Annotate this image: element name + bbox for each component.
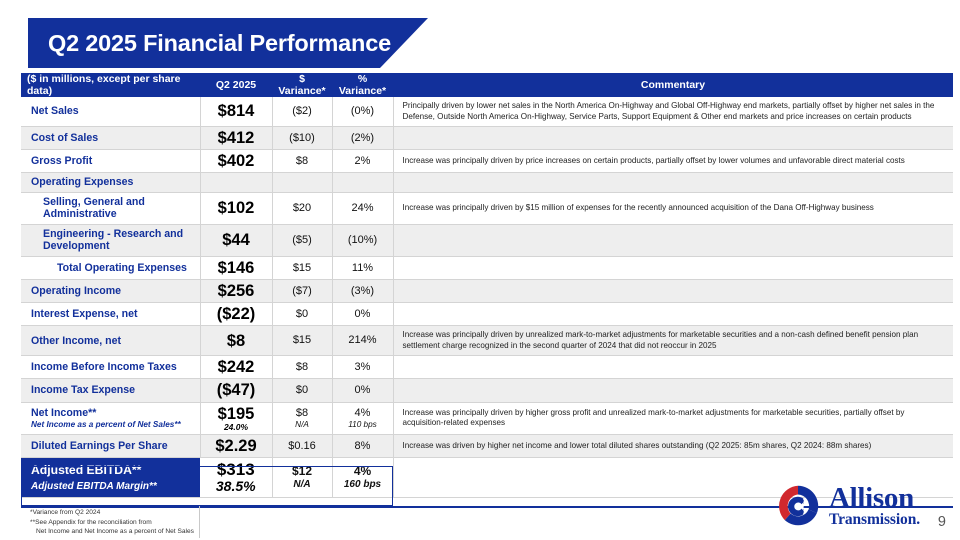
row-dollar-variance: $0.16 <box>272 435 332 458</box>
row-value: $146 <box>200 256 272 279</box>
row-label: Income Before Income Taxes <box>21 356 200 379</box>
row-percent-variance: (10%) <box>332 224 393 256</box>
row-dollar-variance <box>272 173 332 193</box>
row-percent-variance <box>332 173 393 193</box>
row-commentary <box>393 127 953 150</box>
header-commentary: Commentary <box>393 73 953 97</box>
table-header-row: ($ in millions, except per share data) Q… <box>21 73 953 97</box>
row-commentary <box>393 303 953 326</box>
row-label: Selling, General and Administrative <box>21 192 200 224</box>
row-dollar-variance: $8N/A <box>272 402 332 434</box>
row-dollar-variance: $0 <box>272 379 332 402</box>
footnotes: *Variance from Q2 2024 **See Appendix fo… <box>30 508 194 537</box>
row-value: ($47) <box>200 379 272 402</box>
row-commentary <box>393 256 953 279</box>
row-commentary <box>393 279 953 302</box>
header-value: Q2 2025 <box>200 73 272 97</box>
row-percent-variance: (0%) <box>332 97 393 127</box>
row-dollar-variance: $8 <box>272 356 332 379</box>
row-commentary <box>393 356 953 379</box>
table-row: Net Income**Net Income as a percent of N… <box>21 402 953 434</box>
table-body: Net Sales$814($2)(0%)Principally driven … <box>21 97 953 498</box>
row-dollar-variance: ($2) <box>272 97 332 127</box>
table-vertical-rule <box>199 506 200 538</box>
adjusted-ebitda-dollar-variance: $12N/A <box>272 458 332 498</box>
page-number: 9 <box>938 514 946 530</box>
table-row: Income Before Income Taxes$242$83% <box>21 356 953 379</box>
row-label: Operating Income <box>21 279 200 302</box>
row-dollar-variance: $0 <box>272 303 332 326</box>
row-label: Income Tax Expense <box>21 379 200 402</box>
row-label: Diluted Earnings Per Share <box>21 435 200 458</box>
sub-value: 110 bps <box>335 420 391 429</box>
row-commentary: Increase was principally driven by price… <box>393 150 953 173</box>
row-value: $242 <box>200 356 272 379</box>
row-value: $102 <box>200 192 272 224</box>
row-dollar-variance: ($10) <box>272 127 332 150</box>
row-label: Operating Expenses <box>21 173 200 193</box>
table-row: Engineering - Research and Development$4… <box>21 224 953 256</box>
row-label: Total Operating Expenses <box>21 256 200 279</box>
row-value: $19524.0% <box>200 402 272 434</box>
allison-transmission-logo: Allison Transmission. <box>776 484 920 528</box>
row-value <box>200 173 272 193</box>
row-commentary: Principally driven by lower net sales in… <box>393 97 953 127</box>
footnote-line-3: Net Income and Net Income as a percent o… <box>30 527 194 537</box>
header-percent-variance: % Variance* <box>332 73 393 97</box>
row-label: Interest Expense, net <box>21 303 200 326</box>
row-commentary <box>393 224 953 256</box>
row-label: Engineering - Research and Development <box>21 224 200 256</box>
row-value: $2.29 <box>200 435 272 458</box>
row-commentary: Increase was driven by higher net income… <box>393 435 953 458</box>
table-row: Selling, General and Administrative$102$… <box>21 192 953 224</box>
row-value: ($22) <box>200 303 272 326</box>
row-percent-variance: 24% <box>332 192 393 224</box>
table-row: Total Operating Expenses$146$1511% <box>21 256 953 279</box>
row-commentary: Increase was principally driven by unrea… <box>393 326 953 356</box>
row-dollar-variance: $15 <box>272 326 332 356</box>
adjusted-ebitda-label: Adjusted EBITDA**Adjusted EBITDA Margin*… <box>21 458 200 498</box>
footnote-line-2: **See Appendix for the reconciliation fr… <box>30 519 152 526</box>
sub-value: 24.0% <box>203 423 270 432</box>
logo-wordmark: Allison Transmission. <box>829 484 920 528</box>
allison-swirl-icon <box>776 484 820 528</box>
financial-performance-table: ($ in millions, except per share data) Q… <box>21 73 953 498</box>
sub-value: Net Income as a percent of Net Sales** <box>31 420 196 430</box>
row-percent-variance: (3%) <box>332 279 393 302</box>
row-value: $256 <box>200 279 272 302</box>
table-row: Cost of Sales$412($10)(2%) <box>21 127 953 150</box>
page-title: Q2 2025 Financial Performance <box>28 30 391 57</box>
row-dollar-variance: ($5) <box>272 224 332 256</box>
table-row: Operating Expenses <box>21 173 953 193</box>
row-value: $412 <box>200 127 272 150</box>
table-row: Other Income, net$8$15214%Increase was p… <box>21 326 953 356</box>
row-percent-variance: 0% <box>332 303 393 326</box>
row-value: $8 <box>200 326 272 356</box>
table-row: Interest Expense, net($22)$00% <box>21 303 953 326</box>
row-percent-variance: (2%) <box>332 127 393 150</box>
footnote-line-1: *Variance from Q2 2024 <box>30 509 100 516</box>
slide-canvas: Q2 2025 Financial Performance ($ in mill… <box>0 0 960 540</box>
row-dollar-variance: $8 <box>272 150 332 173</box>
row-dollar-variance: ($7) <box>272 279 332 302</box>
row-label: Gross Profit <box>21 150 200 173</box>
title-banner: Q2 2025 Financial Performance <box>28 18 428 68</box>
sub-value: N/A <box>275 479 330 490</box>
sub-value: 38.5% <box>202 479 270 494</box>
row-percent-variance: 11% <box>332 256 393 279</box>
row-commentary: Increase was principally driven by $15 m… <box>393 192 953 224</box>
row-percent-variance: 4%110 bps <box>332 402 393 434</box>
row-label: Net Sales <box>21 97 200 127</box>
sub-value: Adjusted EBITDA Margin** <box>31 481 196 493</box>
row-percent-variance: 2% <box>332 150 393 173</box>
row-commentary <box>393 379 953 402</box>
header-dollar-variance: $ Variance* <box>272 73 332 97</box>
row-dollar-variance: $20 <box>272 192 332 224</box>
row-percent-variance: 8% <box>332 435 393 458</box>
table-row: Net Sales$814($2)(0%)Principally driven … <box>21 97 953 127</box>
row-value: $402 <box>200 150 272 173</box>
table-row: Gross Profit$402$82%Increase was princip… <box>21 150 953 173</box>
row-label: Net Income**Net Income as a percent of N… <box>21 402 200 434</box>
row-dollar-variance: $15 <box>272 256 332 279</box>
table-row: Diluted Earnings Per Share$2.29$0.168%In… <box>21 435 953 458</box>
sub-value: 160 bps <box>335 479 391 490</box>
row-value: $44 <box>200 224 272 256</box>
table-row: Income Tax Expense($47)$00% <box>21 379 953 402</box>
row-percent-variance: 214% <box>332 326 393 356</box>
row-commentary <box>393 173 953 193</box>
adjusted-ebitda-percent-variance: 4%160 bps <box>332 458 393 498</box>
row-label: Other Income, net <box>21 326 200 356</box>
row-label: Cost of Sales <box>21 127 200 150</box>
row-percent-variance: 0% <box>332 379 393 402</box>
row-value: $814 <box>200 97 272 127</box>
logo-primary-text: Allison <box>829 484 920 513</box>
sub-value: N/A <box>275 420 330 429</box>
header-label: ($ in millions, except per share data) <box>21 73 200 97</box>
logo-secondary-text: Transmission. <box>829 512 920 528</box>
row-commentary: Increase was principally driven by highe… <box>393 402 953 434</box>
row-percent-variance: 3% <box>332 356 393 379</box>
adjusted-ebitda-value: $31338.5% <box>200 458 272 498</box>
table-row: Operating Income$256($7)(3%) <box>21 279 953 302</box>
